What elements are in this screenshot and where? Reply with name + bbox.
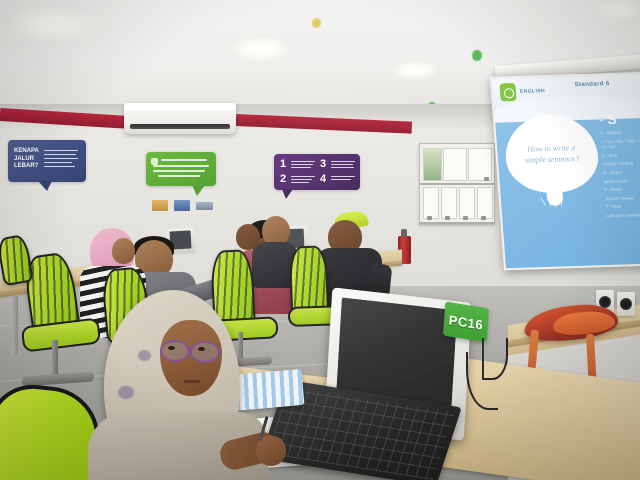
poster-text-line (291, 161, 315, 162)
poster-step-number: 3 (320, 159, 326, 170)
slide-right-line: pencil / book (604, 177, 640, 184)
projector-screen: ENGLISH Standard 6 How to write a simple… (489, 60, 640, 282)
poster-text-line (153, 170, 205, 172)
glasses-bridge (186, 347, 192, 349)
slide-right-line: Last year / yesterday (606, 211, 640, 218)
poster-text-line (331, 161, 355, 162)
slide-right-title: S (607, 111, 618, 127)
poster-broadband-blue: KENAPA JALUR LEBAR? (8, 140, 86, 182)
ceiling-downlight (232, 38, 290, 62)
desktop-speaker (617, 292, 635, 316)
eye (198, 347, 205, 351)
ceiling-downlight (598, 0, 640, 20)
poster-green (146, 152, 216, 186)
poster-text-line (291, 164, 313, 165)
slide-right-line: P - Place (604, 186, 640, 193)
poster-step-number: 4 (320, 174, 326, 185)
board-hanging-sheet (441, 187, 457, 219)
poster-text-line (331, 176, 355, 177)
poster-purple-steps: 1 2 3 4 (274, 154, 360, 190)
slide-right-line: I / You / We / They / He / She / It / ca… (601, 137, 640, 150)
board-hanging-sheet (459, 187, 475, 219)
poster-step-number: 1 (280, 159, 286, 170)
poster-text-line (291, 179, 312, 180)
poster-green-icon (151, 158, 158, 165)
slide-right-line: S - Subject (600, 129, 640, 136)
mouth (184, 380, 200, 383)
slide-bubble-text: How to write a simple sentence? (524, 142, 580, 166)
poster-text-line (44, 158, 78, 159)
poster-text-line (291, 176, 315, 177)
slide-subject-label: ENGLISH (520, 88, 545, 95)
subject-badge-icon (499, 83, 516, 101)
pc-label-tag: PC16 (443, 302, 489, 343)
slide-right-line: T - Time (606, 203, 640, 210)
glasses-lens-right (190, 341, 220, 363)
poster-title-line1: KENAPA (14, 148, 39, 156)
desk-leg (12, 296, 18, 354)
poster-title-line2: JALUR (14, 156, 39, 164)
person-girl-floral-hijab (80, 286, 320, 480)
slide-speech-bubble: How to write a simple sentence? (503, 114, 601, 195)
poster-text-line (44, 162, 72, 163)
slide-right-column: S S - Subject I / You / We / They / He /… (599, 110, 640, 219)
ceiling-downlight (8, 8, 94, 42)
board-poster (443, 148, 467, 181)
slide-right-line: School / market (605, 194, 640, 201)
projected-slide: ENGLISH Standard 6 How to write a simple… (490, 72, 640, 271)
slide-right-line: V - Verb (602, 151, 640, 158)
poster-text-line (44, 154, 76, 155)
slide-standard-label: Standard 6 (574, 81, 609, 88)
poster-text-line (153, 165, 209, 167)
poster-text-line (331, 167, 354, 168)
slide-right-line: O - Object (603, 168, 640, 175)
poster-step-number: 2 (280, 174, 286, 185)
poster-text-line (44, 166, 75, 167)
classroom-photo: KENAPA JALUR LEBAR? 1 2 3 (0, 0, 640, 480)
poster-text-line (44, 150, 78, 151)
ceiling-downlight (392, 62, 438, 80)
hand-doodle-icon (540, 196, 547, 206)
poster-text-line (291, 167, 311, 168)
logo-badge (196, 202, 213, 210)
board-hanging-sheet (423, 187, 439, 219)
poster-text-line (331, 164, 353, 165)
pc-label-text: PC16 (448, 312, 483, 332)
logo-badge (174, 200, 190, 211)
face (112, 238, 135, 264)
poster-text-line (331, 179, 351, 180)
poster-title-line3: LEBAR? (14, 163, 39, 171)
poster-logo-row (152, 200, 214, 212)
ceiling-decoration-dot (472, 50, 482, 61)
head (236, 224, 260, 250)
poster-title: KENAPA JALUR LEBAR? (14, 148, 39, 171)
board-poster (423, 148, 442, 181)
poster-text-line (158, 175, 200, 177)
slide-bullet-icon (599, 117, 603, 121)
chair-post (52, 340, 58, 378)
ceiling-decoration-dot (312, 18, 321, 28)
poster-bubble-tail (282, 189, 293, 199)
poster-text-line (291, 182, 309, 183)
notice-board (419, 143, 495, 225)
logo-badge (152, 200, 168, 211)
eye (168, 346, 175, 350)
poster-text-line (161, 159, 207, 161)
poster-bubble-tail (192, 185, 205, 196)
poster-bubble-tail (38, 181, 52, 191)
air-conditioner-unit (124, 103, 236, 134)
slide-bubble-line2: simple sentence? (524, 153, 579, 166)
glasses-lens-left (160, 340, 190, 362)
slide-right-line: cycling / reading (602, 160, 640, 167)
